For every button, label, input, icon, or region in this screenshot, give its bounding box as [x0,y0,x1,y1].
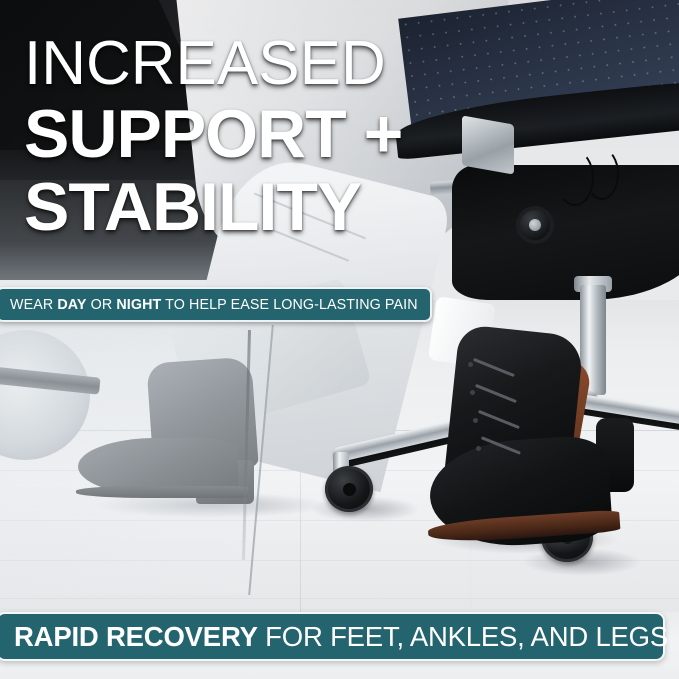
subtitle-bold-day: DAY [57,297,86,313]
caster-hub [343,483,356,496]
headline-line-1: INCREASED [24,34,664,94]
boot-eyelet [473,418,478,423]
bottom-banner: RAPID RECOVERY FOR FEET, ANKLES, AND LEG… [0,612,665,661]
subtitle-part-2: OR [87,297,117,313]
bottom-banner-rest: FOR FEET, ANKLES, AND LEGS [258,621,668,652]
floor-plank-line [0,598,679,599]
promo-image-canvas: INCREASED SUPPORT + STABILITY WEAR DAY O… [0,0,679,679]
subtitle-text: WEAR DAY OR NIGHT TO HELP EASE LONG-LAST… [10,297,418,313]
boot-eyelet [470,390,475,395]
headline-block: INCREASED SUPPORT + STABILITY [24,34,664,240]
bottom-banner-bold: RAPID RECOVERY [14,621,258,652]
subtitle-bold-night: NIGHT [116,297,161,313]
headline-line-3: STABILITY [24,175,664,240]
boot-eyelet [468,362,473,367]
subtitle-banner: WEAR DAY OR NIGHT TO HELP EASE LONG-LAST… [0,287,432,322]
grey-boot-sole [76,486,248,498]
boot-eyelet [476,446,481,451]
subtitle-part-1: WEAR [10,297,57,313]
headline-line-2: SUPPORT + [24,102,664,167]
bottom-banner-text: RAPID RECOVERY FOR FEET, ANKLES, AND LEG… [14,621,668,653]
subtitle-part-3: TO HELP EASE LONG-LASTING PAIN [161,297,417,313]
